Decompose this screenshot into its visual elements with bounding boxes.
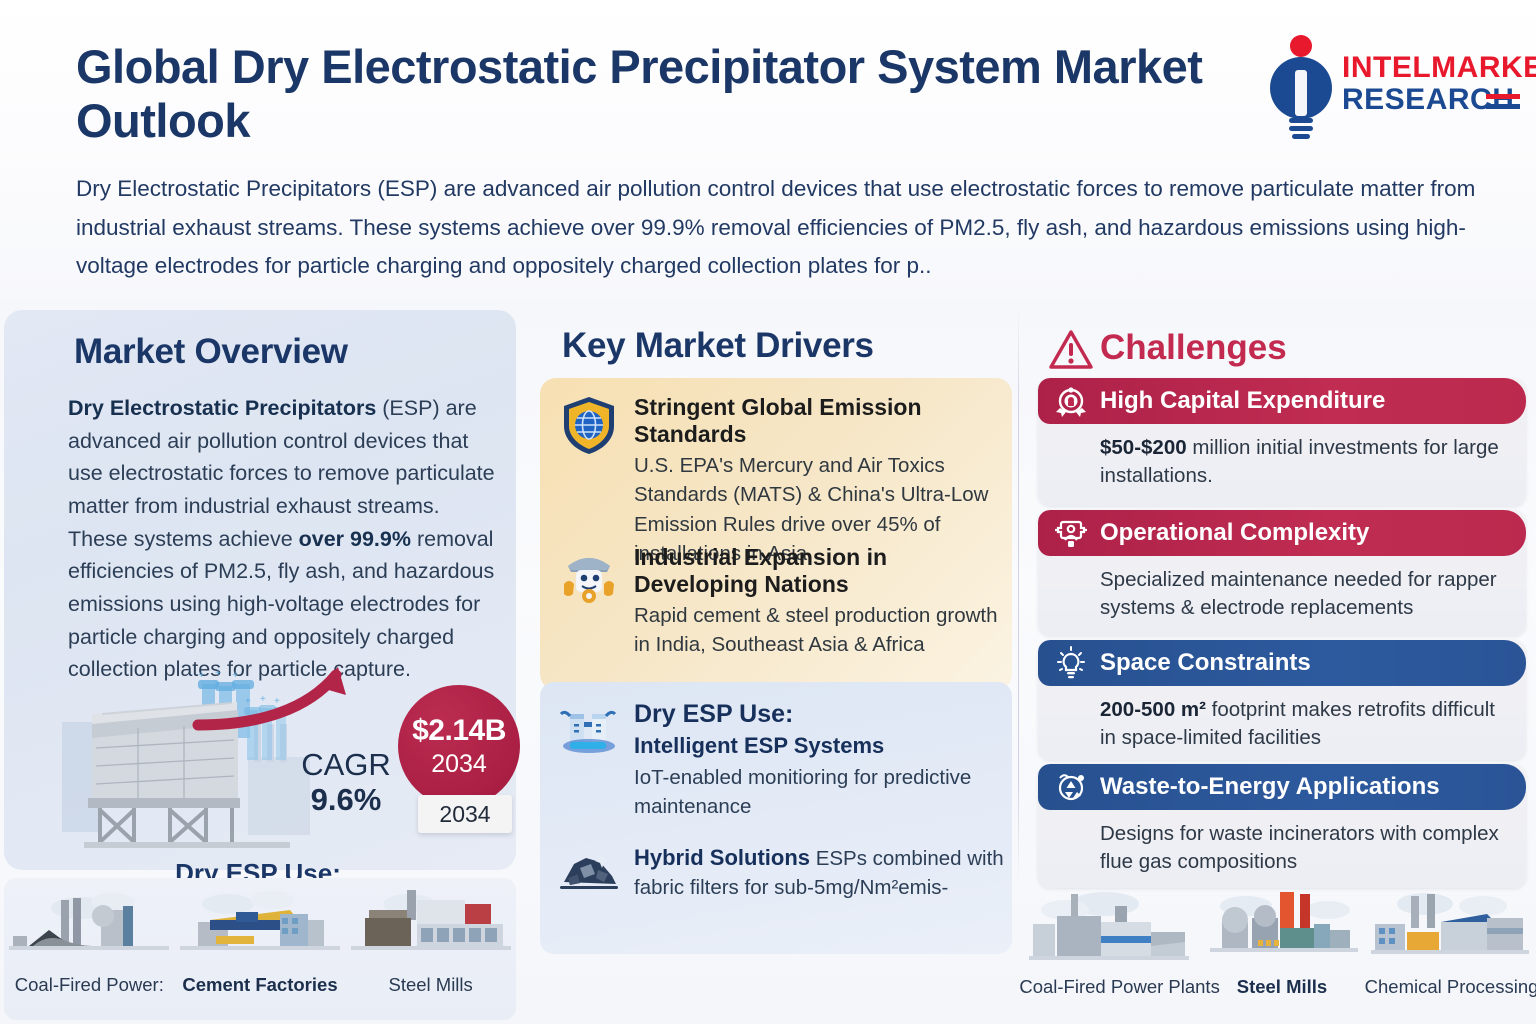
steel-mill-icon	[1202, 888, 1362, 970]
overview-bold-2: over 99.9%	[299, 527, 411, 551]
logo-accent-bars	[1486, 94, 1520, 114]
drivers-blue-card-heading: Dry ESP Use:	[634, 700, 1008, 729]
driver-heading: Hybrid Solutions	[634, 845, 810, 870]
year-badge: 2034	[418, 795, 512, 833]
industry-item: Coal-Fired Power Plants	[1019, 888, 1199, 998]
driver-heading: Stringent Global Emission Standards	[634, 394, 1008, 447]
driver-text-hybrid: Hybrid Solutions ESPs combined with fabr…	[634, 842, 1008, 902]
industry-item: Steel Mills	[1202, 888, 1362, 998]
driver-text: Rapid cement & steel production growth i…	[634, 601, 1008, 659]
challenge-body-text: Designs for waste incinerators with comp…	[1100, 822, 1499, 873]
challenges-title: Challenges	[1100, 328, 1287, 368]
market-value: $2.14B	[412, 716, 506, 746]
svg-text:+: +	[215, 667, 221, 679]
challenge-heading: Operational Complexity	[1100, 519, 1369, 547]
key-market-drivers-title: Key Market Drivers	[562, 326, 874, 366]
coal-pile-icon	[558, 842, 620, 904]
shield-globe-icon	[558, 394, 620, 456]
industry-label: Steel Mills	[351, 974, 511, 996]
challenge-header: Space Constraints	[1038, 640, 1526, 686]
industry-item: Coal-Fired Power:	[9, 886, 169, 996]
lightbulb-icon	[1258, 34, 1344, 142]
challenge-card: Waste-to-Energy Applications Designs for…	[1038, 764, 1526, 888]
market-overview-title: Market Overview	[74, 332, 348, 372]
page-header: Global Dry Electrostatic Precipitator Sy…	[0, 0, 1536, 300]
market-overview-body: Dry Electrostatic Precipitators (ESP) ar…	[68, 392, 496, 686]
steel-mill-icon	[351, 886, 511, 968]
lightbulb-idea-icon	[1054, 646, 1088, 680]
industry-label: Coal-Fired Power:	[9, 974, 169, 996]
chemical-plant-icon	[1365, 888, 1535, 970]
industry-item: Cement Factories	[180, 886, 340, 996]
challenge-header: High Capital Expenditure	[1038, 378, 1526, 424]
challenge-body: Designs for waste incinerators with comp…	[1038, 810, 1526, 887]
cement-factory-icon	[180, 886, 340, 968]
driver-text: IoT-enabled monitioring for predictive m…	[634, 763, 1008, 821]
challenge-body: $50-$200 million initial investments for…	[1038, 424, 1526, 501]
industry-label: Cement Factories	[180, 974, 340, 996]
column-divider	[1018, 305, 1019, 885]
recycle-energy-icon	[1054, 770, 1088, 804]
industry-item: Chemical Processing	[1365, 888, 1535, 998]
warning-triangle-icon	[1048, 328, 1094, 372]
driver-item: Dry ESP Use: Intelligent ESP Systems IoT…	[558, 700, 1008, 821]
driver-item: Stringent Global Emission Standards U.S.…	[558, 394, 1008, 568]
machine-gear-icon	[1054, 516, 1088, 550]
driver-item: Hybrid Solutions ESPs combined with fabr…	[558, 842, 1008, 904]
challenge-header: Waste-to-Energy Applications	[1038, 764, 1526, 810]
challenge-body-bold: 200-500 m²	[1100, 698, 1206, 721]
page-subtitle: Dry Electrostatic Precipitators (ESP) ar…	[76, 170, 1476, 286]
market-value-badge: $2.14B 2034	[398, 685, 520, 807]
industry-item: Steel Mills	[351, 886, 511, 996]
industry-label: Chemical Processing	[1365, 976, 1535, 998]
driver-heading: Industrial Expansion in Developing Natio…	[634, 544, 1008, 597]
logo-line-1: INTELMARKET	[1342, 52, 1536, 84]
esp-use-strip: Coal-Fired Power: Cement Factor	[4, 878, 516, 1020]
market-value-year: 2034	[431, 752, 487, 777]
page-title: Global Dry Electrostatic Precipitator Sy…	[76, 40, 1246, 147]
industry-label: Steel Mills	[1202, 976, 1362, 998]
challenge-card: High Capital Expenditure $50-$200 millio…	[1038, 378, 1526, 506]
brand-logo[interactable]: INTELMARKET RESEARCH	[1258, 30, 1520, 142]
challenge-body: Specialized maintenance needed for rappe…	[1038, 556, 1526, 633]
challenge-card: Space Constraints 200-500 m² footprint m…	[1038, 640, 1526, 760]
esp-plant-icon	[558, 700, 620, 762]
challenge-body-bold: $50-$200	[1100, 436, 1187, 459]
challenge-heading: Waste-to-Energy Applications	[1100, 773, 1440, 801]
challenge-body-text: Specialized maintenance needed for rappe…	[1100, 568, 1497, 619]
challenge-heading: High Capital Expenditure	[1100, 387, 1385, 415]
challenge-card: Operational Complexity Specialized maint…	[1038, 510, 1526, 636]
svg-text:+: +	[232, 669, 238, 681]
industry-label: Coal-Fired Power Plants	[1019, 976, 1199, 998]
cagr-label: CAGR	[286, 748, 406, 783]
svg-text:+: +	[198, 669, 204, 681]
coal-power-plant-icon	[1019, 888, 1199, 970]
driver-item: Industrial Expansion in Developing Natio…	[558, 544, 1008, 660]
cagr-block: CAGR 9.6%	[286, 748, 406, 817]
challenge-header: Operational Complexity	[1038, 510, 1526, 556]
challenge-heading: Space Constraints	[1100, 649, 1311, 677]
drivers-card-blue: Dry ESP Use: Intelligent ESP Systems IoT…	[540, 682, 1012, 954]
coal-power-plant-icon	[9, 886, 169, 968]
overview-bold-1: Dry Electrostatic Precipitators	[68, 396, 376, 420]
industries-strip-right: Coal-Fired Power Plants	[1018, 884, 1536, 1022]
cagr-value: 9.6%	[286, 783, 406, 818]
drivers-card-gold: Stringent Global Emission Standards U.S.…	[540, 378, 1012, 690]
driver-heading: Intelligent ESP Systems	[634, 733, 1008, 759]
money-lock-icon	[1054, 384, 1088, 418]
worker-gear-icon	[558, 544, 620, 606]
challenge-body: 200-500 m² footprint makes retrofits dif…	[1038, 686, 1526, 760]
